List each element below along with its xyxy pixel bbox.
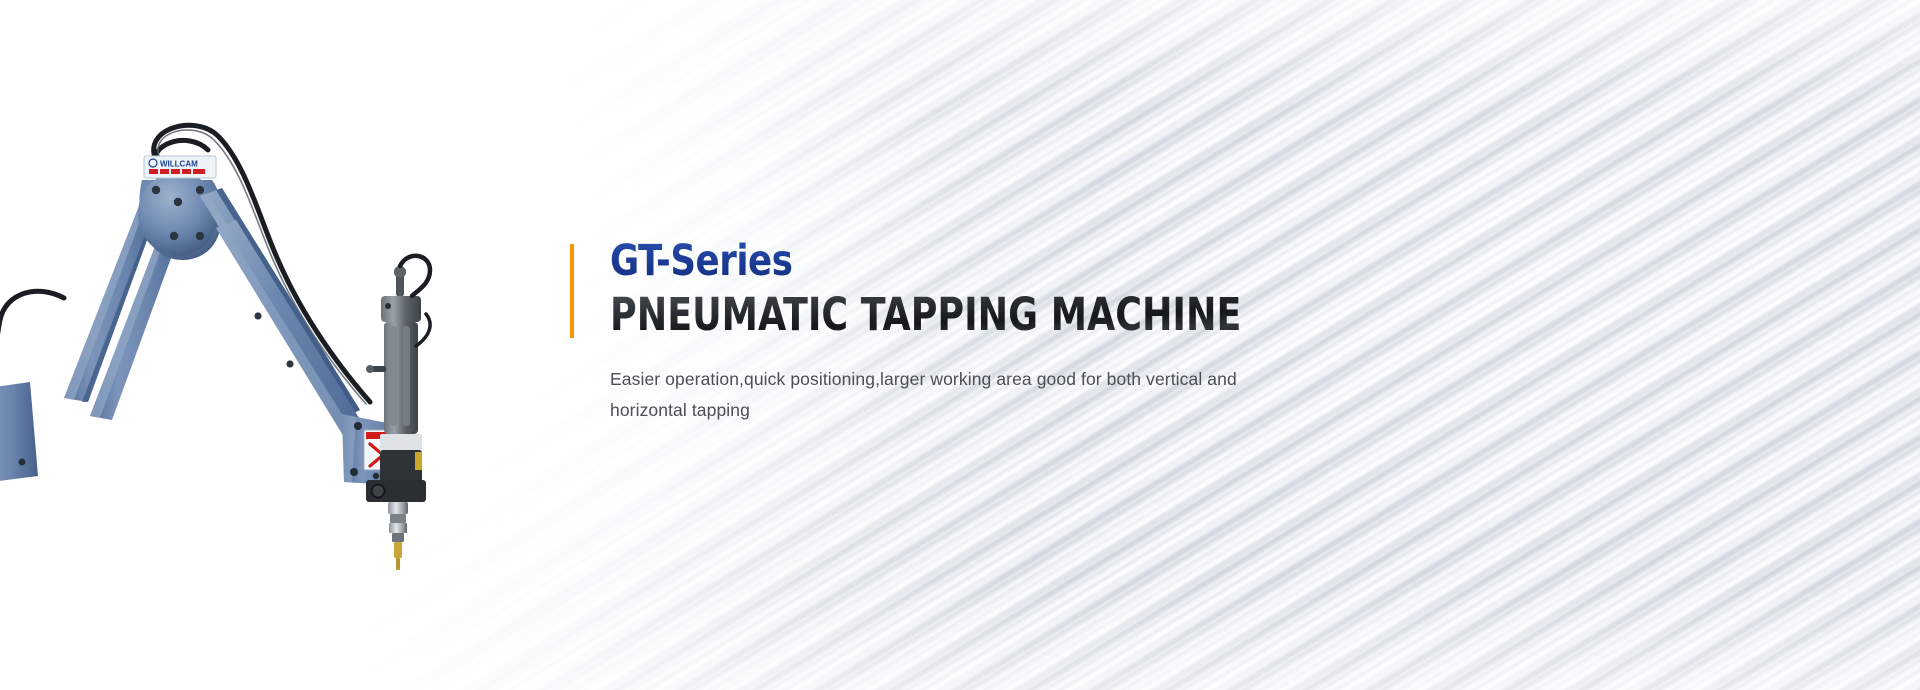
page-subtitle: PNEUMATIC TAPPING MACHINE — [610, 288, 1258, 342]
accent-bar — [570, 244, 574, 338]
hero-titles: GT-Series PNEUMATIC TAPPING MACHINE — [570, 236, 1330, 342]
page-title: GT-Series — [610, 236, 1272, 286]
lower-right-arm — [216, 220, 374, 450]
base-mount — [0, 376, 38, 504]
hero-description: Easier operation,quick positioning,large… — [570, 364, 1310, 426]
product-hero-banner: WILLCAM — [0, 0, 1920, 690]
pneumatic-spindle-head — [366, 256, 430, 570]
svg-text:WILLCAM: WILLCAM — [160, 160, 198, 169]
hero-text-block: GT-Series PNEUMATIC TAPPING MACHINE Easi… — [570, 236, 1330, 426]
product-image: WILLCAM — [0, 84, 520, 584]
brand-label: WILLCAM — [144, 156, 216, 178]
